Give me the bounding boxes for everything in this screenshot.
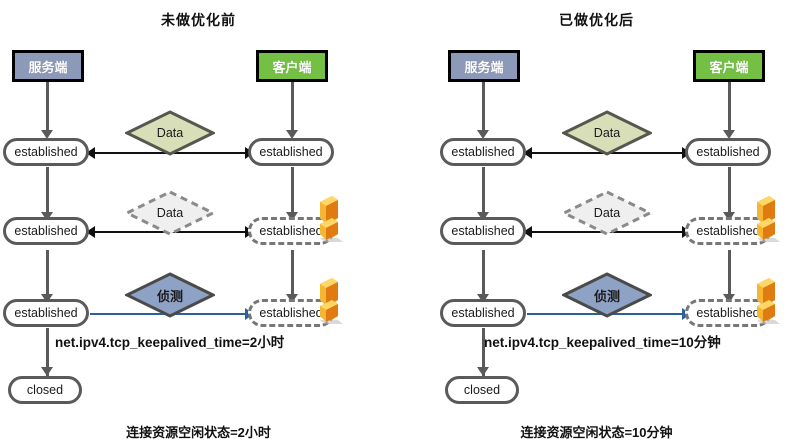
warning-exclamation-3d-icon (312, 276, 342, 322)
panel-after: 已做优化后 服务端 客户端 established established es… (398, 0, 795, 444)
detect-diamond-label: 侦测 (562, 272, 652, 318)
client-state-1: established (248, 138, 334, 166)
keepalive-setting-text: net.ipv4.tcp_keepalived_time=10分钟 (484, 331, 721, 351)
message-diamond-1: Data (562, 110, 652, 156)
client-lifeline-1 (291, 82, 294, 136)
client-state-1-label: established (259, 145, 322, 159)
client-state-1-label: established (696, 145, 759, 159)
detect-diamond-label: 侦测 (125, 272, 215, 318)
panel-title-before: 未做优化前 (0, 10, 397, 30)
message-diamond-1: Data (125, 110, 215, 156)
server-lifeline-1 (482, 82, 485, 136)
server-state-closed-label: closed (464, 383, 500, 397)
server-state-1: established (3, 138, 89, 166)
server-state-2: established (440, 217, 526, 245)
client-label: 客户端 (272, 57, 311, 76)
server-state-2: established (3, 217, 89, 245)
message-diamond-1-label: Data (125, 110, 215, 156)
keepalive-setting-text: net.ipv4.tcp_keepalived_time=2小时 (55, 331, 284, 351)
server-arrow-4 (41, 367, 53, 376)
server-state-3: established (3, 299, 89, 327)
server-box: 服务端 (12, 50, 84, 82)
server-label: 服务端 (28, 57, 67, 76)
server-state-2-label: established (451, 224, 514, 238)
panel-caption-after: 连接资源空闲状态=10分钟 (398, 422, 795, 441)
message-diamond-2-label: Data (562, 190, 652, 236)
server-arrow-4 (477, 367, 489, 376)
server-state-3: established (440, 299, 526, 327)
server-state-1: established (440, 138, 526, 166)
detect-diamond: 侦测 (562, 272, 652, 318)
message-diamond-2: Data (562, 190, 652, 236)
client-label: 客户端 (709, 57, 748, 76)
server-state-closed-label: closed (27, 383, 63, 397)
server-state-1-label: established (451, 145, 514, 159)
warning-exclamation-3d-icon (749, 194, 779, 240)
detect-diamond: 侦测 (125, 272, 215, 318)
server-state-2-label: established (14, 224, 77, 238)
server-lifeline-1 (46, 82, 49, 136)
client-box: 客户端 (256, 50, 328, 82)
message-diamond-2-label: Data (125, 190, 215, 236)
panel-before: 未做优化前 服务端 客户端 established established es… (0, 0, 397, 444)
warning-exclamation-3d-icon (312, 194, 342, 240)
server-state-1-label: established (14, 145, 77, 159)
server-state-closed: closed (8, 376, 82, 404)
client-lifeline-1 (728, 82, 731, 136)
client-box: 客户端 (693, 50, 765, 82)
server-state-3-label: established (451, 306, 514, 320)
panel-title-after: 已做优化后 (398, 10, 795, 30)
message-diamond-2: Data (125, 190, 215, 236)
client-state-1: established (685, 138, 771, 166)
server-label: 服务端 (464, 57, 503, 76)
message-diamond-1-label: Data (562, 110, 652, 156)
warning-exclamation-3d-icon (749, 276, 779, 322)
server-state-closed: closed (445, 376, 519, 404)
server-box: 服务端 (448, 50, 520, 82)
panel-caption-before: 连接资源空闲状态=2小时 (0, 422, 397, 441)
server-state-3-label: established (14, 306, 77, 320)
